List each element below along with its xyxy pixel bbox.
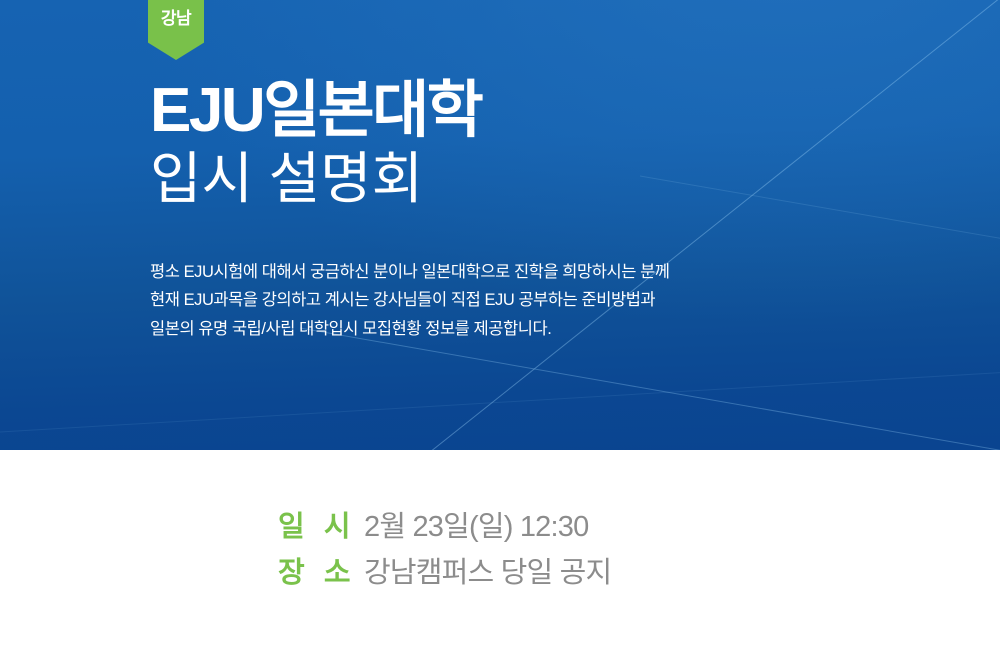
headline-block: EJU일본대학 입시 설명회	[150, 78, 850, 209]
campus-ribbon-badge: 강남	[148, 0, 204, 60]
headline-primary: EJU일본대학	[150, 78, 850, 144]
diagonal-lines-decoration	[0, 0, 1000, 450]
event-detail-label-location: 장 소	[278, 549, 364, 591]
poster-root: 강남 EJU일본대학 입시 설명회 평소 EJU시험에 대해서 궁금하신 분이나…	[0, 0, 1000, 650]
event-detail-label-date-char-2: 시	[324, 503, 350, 545]
event-detail-row-date: 일 시 2월 23일(일) 12:30	[278, 503, 611, 549]
event-detail-label-location-char-1: 장	[278, 549, 304, 591]
event-detail-label-date-char-1: 일	[278, 503, 304, 545]
campus-ribbon-label: 강남	[161, 10, 191, 27]
description-paragraph: 평소 EJU시험에 대해서 궁금하신 분이나 일본대학으로 진학을 희망하시는 …	[150, 258, 790, 343]
hero-panel: 강남 EJU일본대학 입시 설명회 평소 EJU시험에 대해서 궁금하신 분이나…	[0, 0, 1000, 450]
headline-secondary: 입시 설명회	[150, 148, 850, 210]
description-line-1: 평소 EJU시험에 대해서 궁금하신 분이나 일본대학으로 진학을 희망하시는 …	[150, 258, 790, 286]
description-line-3: 일본의 유명 국립/사립 대학입시 모집현황 정보를 제공합니다.	[150, 315, 790, 343]
event-details-table: 일 시 2월 23일(일) 12:30 장 소 강남캠퍼스 당일 공지	[278, 503, 611, 595]
description-line-2: 현재 EJU과목을 강의하고 계시는 강사님들이 직접 EJU 공부하는 준비방…	[150, 286, 790, 314]
event-detail-label-date: 일 시	[278, 503, 364, 545]
event-details-panel: 일 시 2월 23일(일) 12:30 장 소 강남캠퍼스 당일 공지	[0, 450, 1000, 650]
event-detail-value-date: 2월 23일(일) 12:30	[364, 503, 588, 545]
event-detail-row-location: 장 소 강남캠퍼스 당일 공지	[278, 549, 611, 595]
event-detail-label-location-char-2: 소	[324, 549, 350, 591]
event-detail-value-location: 강남캠퍼스 당일 공지	[364, 549, 611, 591]
